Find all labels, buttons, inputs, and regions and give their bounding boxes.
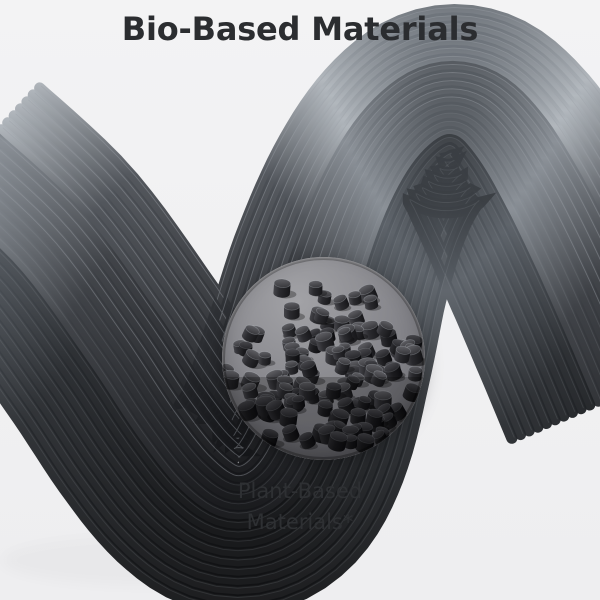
plastic-pellet bbox=[258, 351, 271, 366]
plastic-pellets bbox=[222, 257, 425, 460]
plastic-pellet bbox=[284, 302, 300, 320]
plastic-pellet bbox=[273, 278, 291, 298]
pile-depth-shading bbox=[222, 377, 425, 460]
caption-line-2: Materials* bbox=[0, 507, 600, 538]
product-graphic: Bio-Based Materials bbox=[0, 0, 600, 600]
caption-line-1: Plant-Based bbox=[0, 476, 600, 507]
lens-caption: Plant-Based Materials* bbox=[0, 476, 600, 538]
plastic-pellet bbox=[309, 281, 323, 297]
page-title: Bio-Based Materials bbox=[0, 12, 600, 47]
pellet-magnifier-circle bbox=[222, 257, 425, 460]
